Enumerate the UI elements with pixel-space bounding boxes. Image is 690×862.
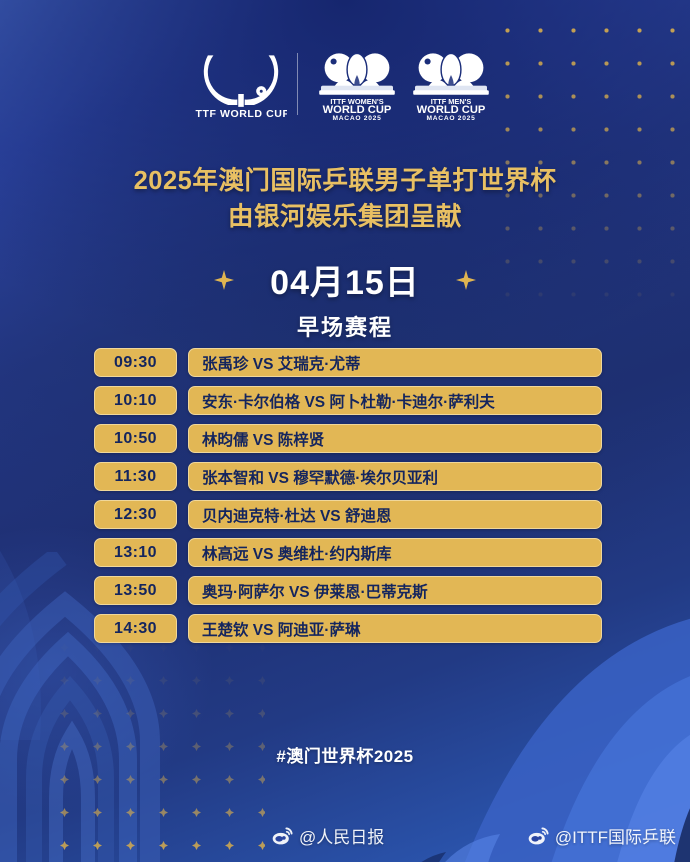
match-time: 09:30 [94,348,177,377]
match-row: 10:10 安东·卡尔伯格 VS 阿卜杜勒·卡迪尔·萨利夫 [94,386,602,415]
match-time: 13:50 [94,576,177,605]
weibo-icon [272,827,293,845]
sparkle-star-icon [214,270,234,290]
match-time: 13:10 [94,538,177,567]
match-time: 10:50 [94,424,177,453]
title-line-1: 2025年澳门国际乒联男子单打世界杯 [0,163,690,199]
watermark-people-daily: @人民日报 [272,823,384,848]
weibo-icon [528,827,549,845]
match-row: 13:50 奥玛·阿萨尔 VS 伊莱恩·巴蒂克斯 [94,576,602,605]
match-players: 贝内迪克特·杜达 VS 舒迪恩 [188,500,602,529]
date-main-text: 04月15日 [270,255,420,304]
match-players: 奥玛·阿萨尔 VS 伊莱恩·巴蒂克斯 [188,576,602,605]
ittf-world-cup-logo: ITTF WORLD CUP [195,48,287,120]
hashtag-text: #澳门世界杯2025 [0,742,690,767]
poster-canvas: ITTF WORLD CUP ITTF WOMEN'S WORLD CUP MA… [0,0,690,862]
match-row: 12:30 贝内迪克特·杜达 VS 舒迪恩 [94,500,602,529]
watermark-handle: @人民日报 [299,823,384,848]
ittf-logo-wordmark: ITTF WORLD CUP [195,108,287,120]
match-players: 张本智和 VS 穆罕默德·埃尔贝亚利 [188,462,602,491]
logo-divider [297,53,298,115]
mens-logo-line3: MACAO 2025 [426,115,475,120]
watermark-ittf: @ITTF国际乒联 [528,823,676,848]
match-players: 王楚钦 VS 阿迪亚·萨琳 [188,614,602,643]
match-time: 10:10 [94,386,177,415]
match-time: 14:30 [94,614,177,643]
womens-logo-line2: WORLD CUP [322,104,391,116]
ittf-womens-world-cup-macao-logo: ITTF WOMEN'S WORLD CUP MACAO 2025 [312,48,402,120]
match-row: 11:30 张本智和 VS 穆罕默德·埃尔贝亚利 [94,462,602,491]
match-players: 张禹珍 VS 艾瑞克·尤蒂 [188,348,602,377]
date-session-label: 早场赛程 [0,310,690,342]
sparkle-star-icon [456,270,476,290]
match-row: 09:30 张禹珍 VS 艾瑞克·尤蒂 [94,348,602,377]
match-row: 10:50 林昀儒 VS 陈梓贤 [94,424,602,453]
match-row: 13:10 林高远 VS 奥维杜·约内斯库 [94,538,602,567]
match-players: 安东·卡尔伯格 VS 阿卜杜勒·卡迪尔·萨利夫 [188,386,602,415]
mens-logo-line2: WORLD CUP [416,104,485,116]
match-players: 林昀儒 VS 陈梓贤 [188,424,602,453]
match-time: 12:30 [94,500,177,529]
logo-row: ITTF WORLD CUP ITTF WOMEN'S WORLD CUP MA… [0,48,690,120]
date-header: 04月15日 早场赛程 [0,255,690,342]
ittf-mens-world-cup-macao-logo: ITTF MEN'S WORLD CUP MACAO 2025 [406,48,496,120]
match-time: 11:30 [94,462,177,491]
womens-logo-line3: MACAO 2025 [332,115,381,120]
match-players: 林高远 VS 奥维杜·约内斯库 [188,538,602,567]
watermark-handle: @ITTF国际乒联 [555,823,676,848]
schedule-list: 09:30 张禹珍 VS 艾瑞克·尤蒂 10:10 安东·卡尔伯格 VS 阿卜杜… [94,348,602,652]
poster-title: 2025年澳门国际乒联男子单打世界杯 由银河娱乐集团呈献 [0,163,690,235]
match-row: 14:30 王楚钦 VS 阿迪亚·萨琳 [94,614,602,643]
title-line-2: 由银河娱乐集团呈献 [0,199,690,235]
